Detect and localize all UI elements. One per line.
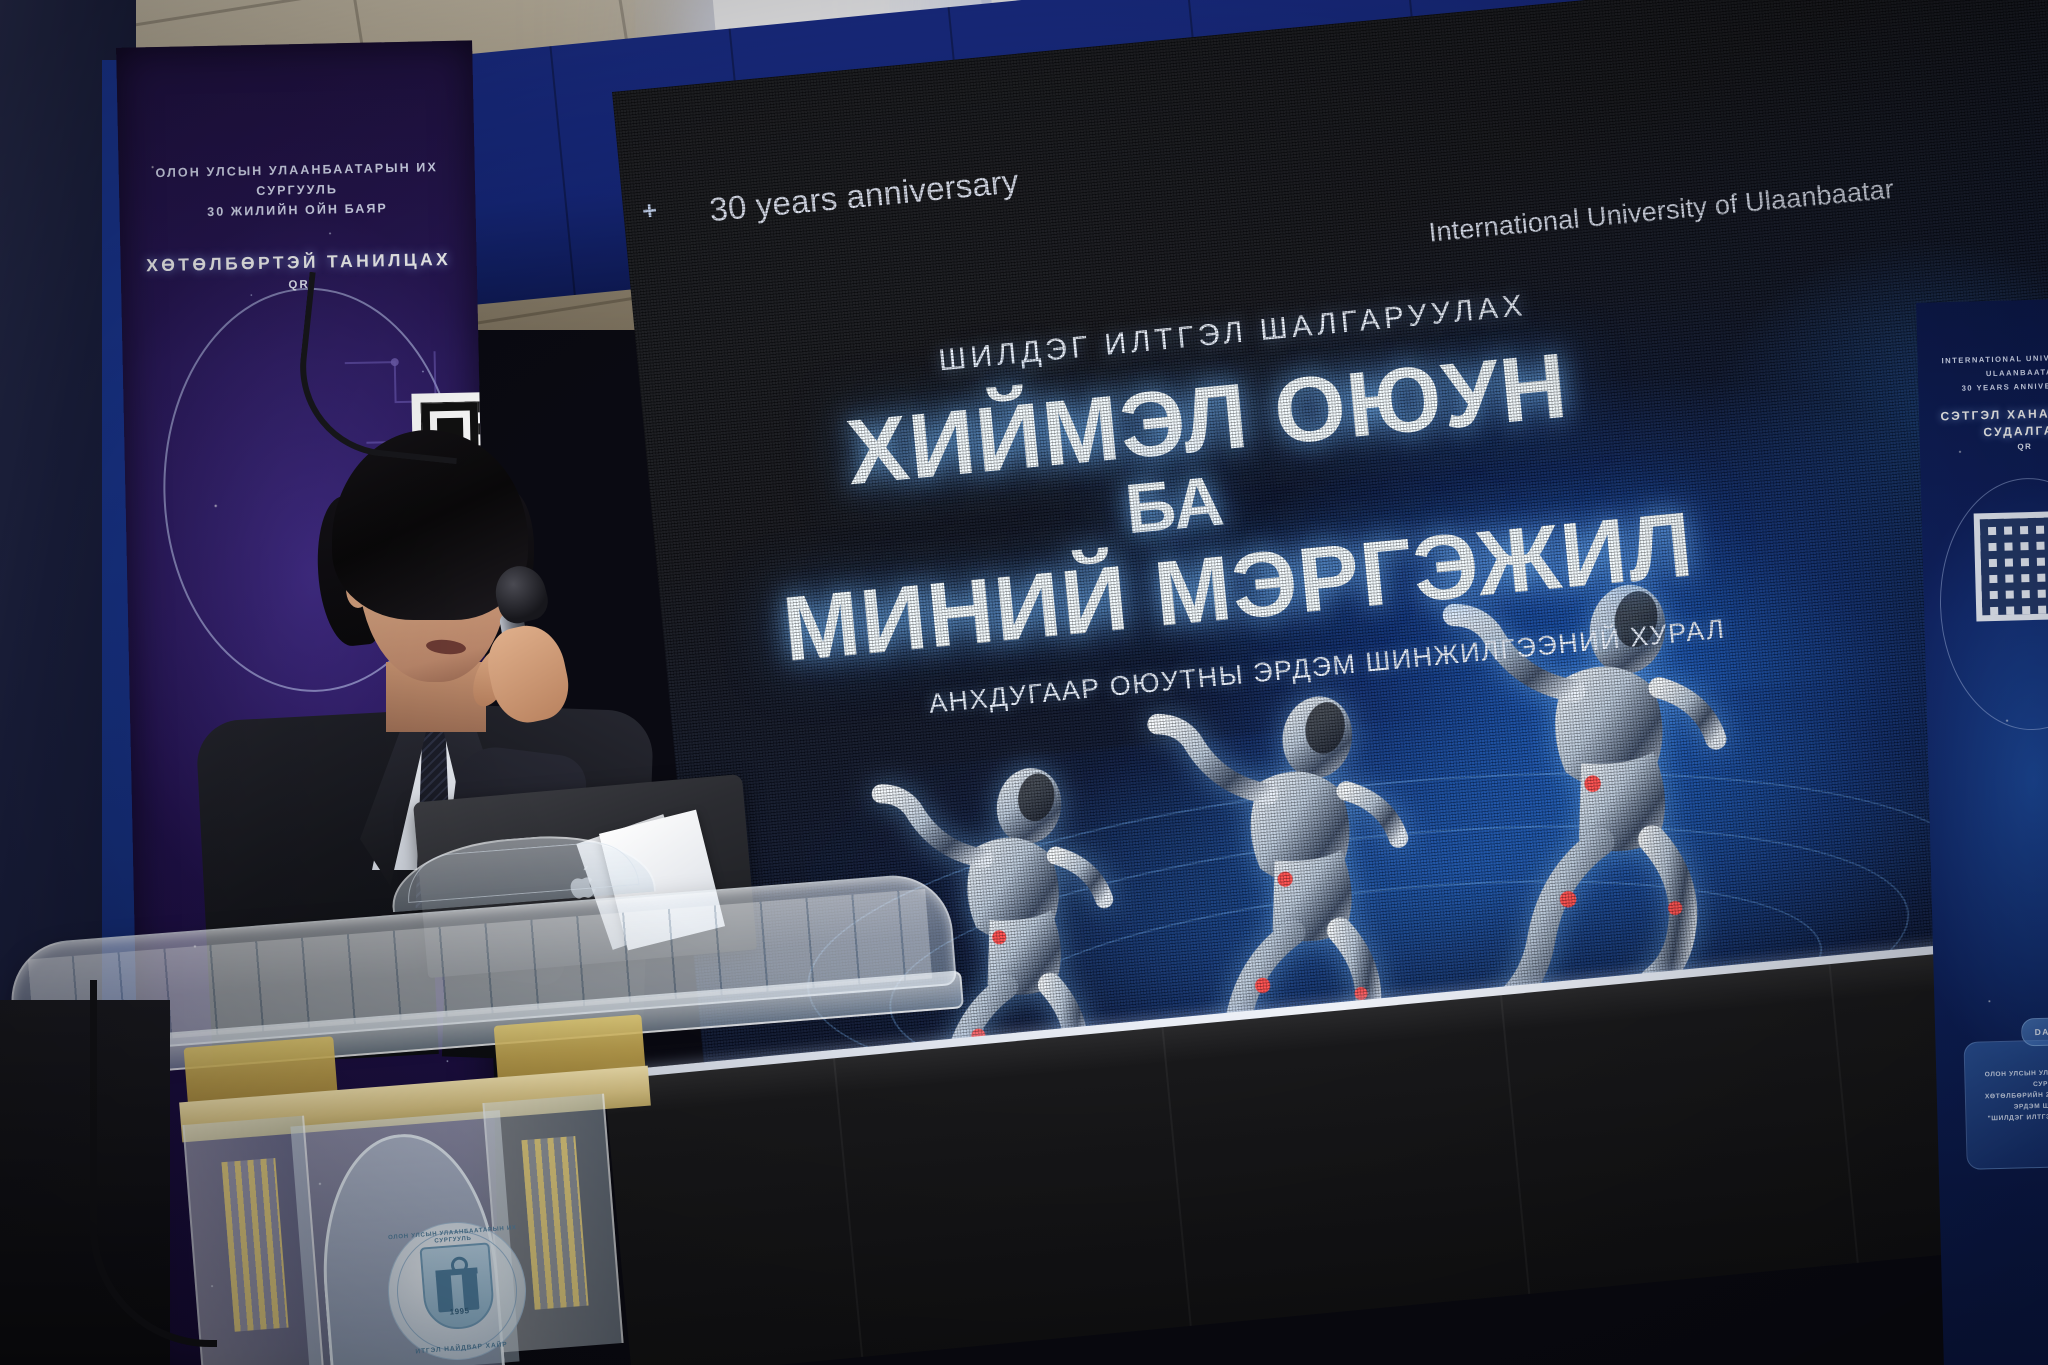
slide-headline-line2: БА [1122,460,1227,549]
left-banner-heading-line1: ОЛОН УЛСЫН УЛААНБААТАРЫН ИХ СУРГУУЛЬ [141,157,454,204]
anniversary-label: 30 years anniversary [708,162,1021,229]
emblem-year: 1995 [426,1304,493,1318]
right-banner-heading: INTERNATIONAL UNIVERSITY OF ULAANBAATAR … [1923,350,2048,397]
right-banner-heading-line1: INTERNATIONAL UNIVERSITY OF ULAANBAATAR [1923,350,2048,383]
left-banner-heading: ОЛОН УЛСЫН УЛААНБААТАРЫН ИХ СУРГУУЛЬ 30 … [141,157,454,224]
floor-cable [90,980,217,1347]
right-banner-card-line1: ОЛОН УЛСЫН УЛААНБААТАРЫН ИХ СУРГУУЛЬ [1970,1065,2048,1091]
right-banner-card-line2: ХӨТӨЛБӨРИЙН 2025 ОНЫ ОЮУТНЫ ЭРДЭМ ШИНЖИЛ… [1971,1087,2048,1113]
university-label: International University of Ulaanbaatar [1427,174,1895,249]
conference-stage-photo: + 30 years anniversary International Uni… [0,0,2048,1365]
right-banner-card-text: ОЛОН УЛСЫН УЛААНБААТАРЫН ИХ СУРГУУЛЬ ХӨТ… [1970,1065,2048,1124]
right-banner-cta: СЭТГЭЛ ХАНАМЖИЙН СУДАЛГАА [1925,404,2048,443]
qr-code-icon[interactable] [1974,511,2048,622]
plus-icon: + [641,196,658,226]
